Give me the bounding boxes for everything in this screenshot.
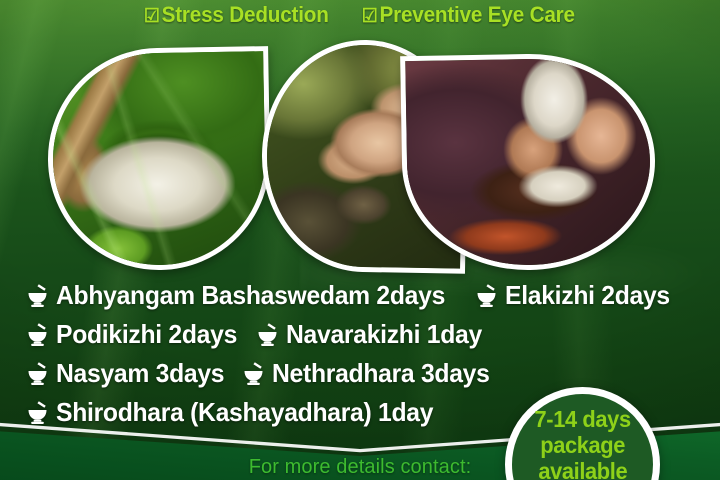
- treatment-item-podikizhi: Podikizhi 2days: [26, 319, 247, 350]
- kizhi-poultice-bowl-photo: [400, 52, 657, 272]
- ayurveda-treatment-poster: ☑ Stress Deduction ☑ Preventive Eye Care: [0, 0, 720, 480]
- treatment-item-elakizhi: Elakizhi 2days: [475, 280, 679, 311]
- mortar-pestle-icon: [26, 361, 49, 386]
- mortar-pestle-icon: [26, 322, 49, 347]
- treatment-row: Nasyam 3days Nethradhara 3days: [0, 354, 720, 393]
- treatment-row: Podikizhi 2days Navarakizhi 1day: [0, 315, 720, 354]
- treatment-item-nasyam: Nasyam 3days: [26, 358, 233, 389]
- treatment-item-navarakizhi: Navarakizhi 1day: [256, 319, 492, 350]
- mortar-pestle-icon: [26, 400, 49, 425]
- treatment-label: Nethradhara 3days: [272, 358, 490, 389]
- photo-collage: [0, 30, 720, 270]
- benefit-label: Preventive Eye Care: [379, 2, 574, 28]
- treatment-item-nethradhara: Nethradhara 3days: [242, 358, 501, 389]
- badge-line-available: available: [538, 459, 627, 480]
- mortar-pestle-icon: [242, 361, 265, 386]
- benefit-label: Stress Deduction: [162, 2, 329, 28]
- ballot-box-check-icon: ☑: [362, 7, 378, 26]
- benefits-header: ☑ Stress Deduction ☑ Preventive Eye Care: [0, 0, 720, 30]
- treatment-label: Abhyangam Bashaswedam 2days: [56, 280, 445, 311]
- mortar-pestle-icon: [475, 283, 498, 308]
- badge-line-package: package: [540, 433, 625, 458]
- treatment-label: Shirodhara (Kashayadhara) 1day: [56, 397, 433, 428]
- mortar-pestle-icon: [256, 322, 279, 347]
- treatment-label: Nasyam 3days: [56, 358, 224, 389]
- badge-line-duration: 7-14 days: [534, 407, 630, 432]
- treatment-item-abhyangam-bashaswedam: Abhyangam Bashaswedam 2days: [26, 280, 466, 311]
- treatment-label: Podikizhi 2days: [56, 319, 237, 350]
- treatment-label: Navarakizhi 1day: [286, 319, 482, 350]
- ballot-box-check-icon: ☑: [144, 7, 160, 26]
- herbal-paste-mortar-pestle-photo: [46, 46, 272, 272]
- treatment-label: Elakizhi 2days: [505, 280, 670, 311]
- leaf-vein-overlay: [51, 51, 267, 267]
- treatment-row: Abhyangam Bashaswedam 2days Elakizhi 2da…: [0, 276, 720, 315]
- benefit-item-preventive-eye-care: ☑ Preventive Eye Care: [362, 2, 575, 28]
- mortar-pestle-icon: [26, 283, 49, 308]
- treatment-item-shirodhara: Shirodhara (Kashayadhara) 1day: [26, 397, 453, 428]
- benefit-item-stress-deduction: ☑ Stress Deduction: [144, 2, 329, 28]
